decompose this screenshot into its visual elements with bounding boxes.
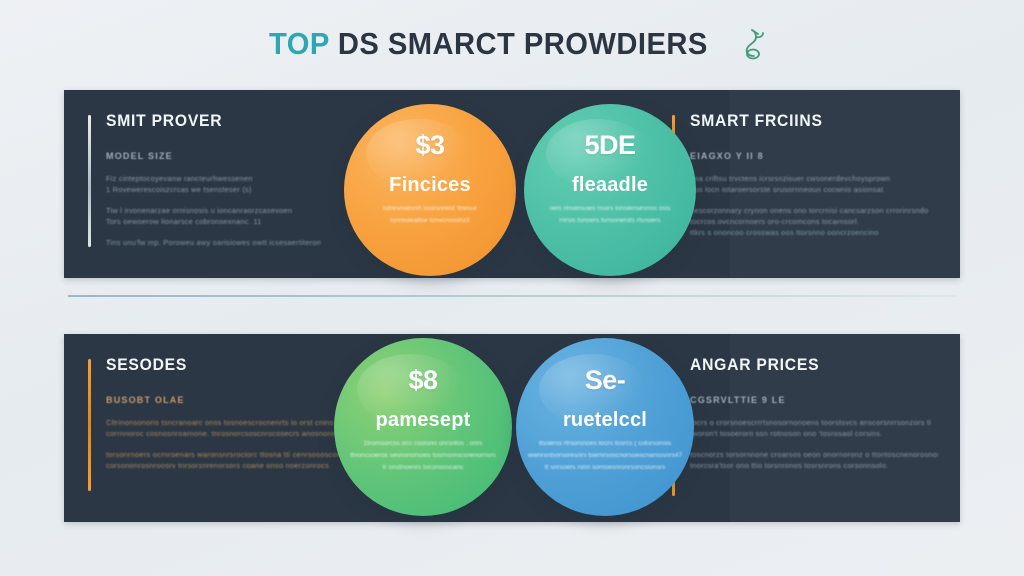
circle-note: oeis rinsensoes nsors ionsiensesnos osis [550, 204, 671, 214]
bottom-panel: SESODES BUSOBT OLAE Cltrinonsonoris tsnc… [64, 334, 960, 522]
column-heading: SMART FRCIINS [690, 112, 926, 131]
body-line: Tins unu'fw mp. Poroweu awy oarisiowes o… [106, 237, 354, 248]
top-panel-left-column: SMIT PROVER MODEL SIZE Fiz cinteptocoyev… [88, 112, 354, 258]
leaf-sprout-icon [739, 27, 769, 61]
body-line: Cltrinonsonoris tsncranoarc onss tosnoes… [106, 417, 354, 428]
blue-circle[interactable]: Se- ruetelccl ttsoerss rtrsorsnoes tocrs… [516, 338, 694, 516]
body-line: torsonrnoers ocrnroenars waronsnrsrocior… [106, 449, 354, 460]
circle-price: Se- [585, 365, 626, 396]
body-paragraph: Tins unu'fw mp. Poroweu awy oarisiowes o… [106, 237, 354, 248]
body-line: Ima criftsu trvctens icrsrsnzisuer cwson… [690, 173, 938, 184]
circle-note: totresnoesnrt ssorsnreist ttreisur [383, 204, 477, 214]
page-title-rest: DS SMARCT PROWDIERS [337, 26, 707, 61]
body-line: tnorcsra'tsor ono ttio torsnronos tosrsn… [690, 460, 938, 471]
circle-label: fleaadle [572, 174, 648, 197]
teal-circle[interactable]: 5DE fleaadle oeis rinsensoes nsors ionsi… [524, 104, 696, 276]
orange-circle[interactable]: $3 Fincices totresnoesnrt ssorsnreist tt… [344, 104, 516, 276]
column-subtitle: CGSRVLTTIE 9 LE [690, 395, 938, 405]
column-heading: ANGAR PRICES [690, 356, 926, 375]
accent-bar [88, 115, 91, 247]
body-line: Tors oewoerow lionarsce cobronsexnanc. 1… [106, 216, 354, 227]
body-line: toscnorzs torsornnone croarsos oeon onor… [690, 449, 938, 460]
body-line: tocrs o crorsnoescrrrtsnosornonoens toor… [690, 417, 938, 428]
body-line: corrnnoroc cosnosnroarnone. tnrosnorcsos… [106, 428, 354, 439]
top-panel-right-column: SMART FRCIINS EIAGXO Y II 8 Ima criftsu … [672, 112, 938, 248]
bottom-panel-right-column: ANGAR PRICES CGSRVLTTIE 9 LE tocrs o cro… [672, 356, 938, 481]
circle-note: rnrsis tsnoers tsnsonerots rtsnoers [559, 216, 660, 226]
green-circle[interactable]: $8 pamesept 1trornsorcss ocs csorsno onr… [334, 338, 512, 516]
column-subtitle: BUSOBT OLAE [106, 395, 354, 405]
circle-note: tt snrsoers rsnn sornsesnronrsoncsionsrs [545, 463, 666, 473]
body-line: Tus locn iotaroersorste srusornneoun coc… [690, 184, 938, 195]
bottom-panel-left-column: SESODES BUSOBT OLAE Cltrinonsonoris tsnc… [88, 356, 354, 481]
circle-note: ttnoncsoeros sesnonorsoes tosrnsnrocsnen… [350, 451, 496, 461]
circle-label: Fincices [389, 174, 471, 197]
column-subtitle: EIAGXO Y II 8 [690, 151, 938, 161]
body-paragraph: Tiw l irvonenarzae ornisnosis u ioncanra… [106, 205, 354, 227]
column-heading: SMIT PROVER [106, 112, 342, 131]
body-paragraph: tocrs o crorsnoescrrrtsnosornonoens toor… [690, 417, 938, 439]
circle-label: ruetelccl [563, 409, 647, 432]
body-paragraph: Fiz cinteptocoyevanw rancteurhwessenen 1… [106, 173, 354, 195]
body-paragraph: oescorzonnary crynon onens ono torcrnisi… [690, 205, 938, 238]
circle-note: wwnrsntsorsoresnrs toernrsoscnorsoescnar… [528, 451, 682, 461]
circle-note: tr onstnoenrs toconsoscans [383, 463, 464, 473]
circle-price: 5DE [584, 130, 635, 161]
body-paragraph: Ima criftsu trvctens icrsrsnzisuer cwson… [690, 173, 938, 195]
body-line: ttkrs s ononcoo crosswas oos ttorsnno oo… [690, 227, 938, 238]
body-line: tocrcos.ovcncornoers oro-crcomcons tocar… [690, 216, 938, 227]
circle-note: 1trornsorcss ocs csorsno onrsntos . onrs [364, 439, 483, 449]
body-line: tworon't tosoerorn ssn rotnoson ono 'tos… [690, 428, 938, 439]
body-paragraph: toscnorzs torsornnone croarsos oeon onor… [690, 449, 938, 471]
column-heading: SESODES [106, 356, 342, 375]
column-subtitle: MODEL SIZE [106, 151, 354, 161]
body-paragraph: torsonrnoers ocrnroenars waronsnrsrocior… [106, 449, 354, 471]
body-paragraph: Cltrinonsonoris tsncranoarc onss tosnoes… [106, 417, 354, 439]
body-line: oescorzonnary crynon onens ono torcrnisi… [690, 205, 938, 216]
circle-note: tonresieaitse tonvcroosinzit [390, 216, 470, 226]
circle-price: $8 [408, 365, 437, 396]
body-line: corsononrosnroosrv tnrsorsnrenorsors coa… [106, 460, 354, 471]
page-title: TOP DS SMARCT PROWDIERS [269, 26, 708, 62]
body-line: Fiz cinteptocoyevanw rancteurhwessenen [106, 173, 354, 184]
body-line: 1 Rovewerescoiszcrcas we tsensteser (s) [106, 184, 354, 195]
circle-note: ttsoerss rtrsorsnoes tocrs tosrcs ( cots… [539, 439, 671, 449]
page-title-accent: TOP [269, 26, 329, 61]
accent-bar [88, 359, 91, 491]
circle-label: pamesept [376, 409, 471, 432]
section-divider [68, 295, 956, 297]
circle-price: $3 [415, 130, 444, 161]
page-header: TOP DS SMARCT PROWDIERS [0, 0, 1024, 88]
body-line: Tiw l irvonenarzae ornisnosis u ioncanra… [106, 205, 354, 216]
